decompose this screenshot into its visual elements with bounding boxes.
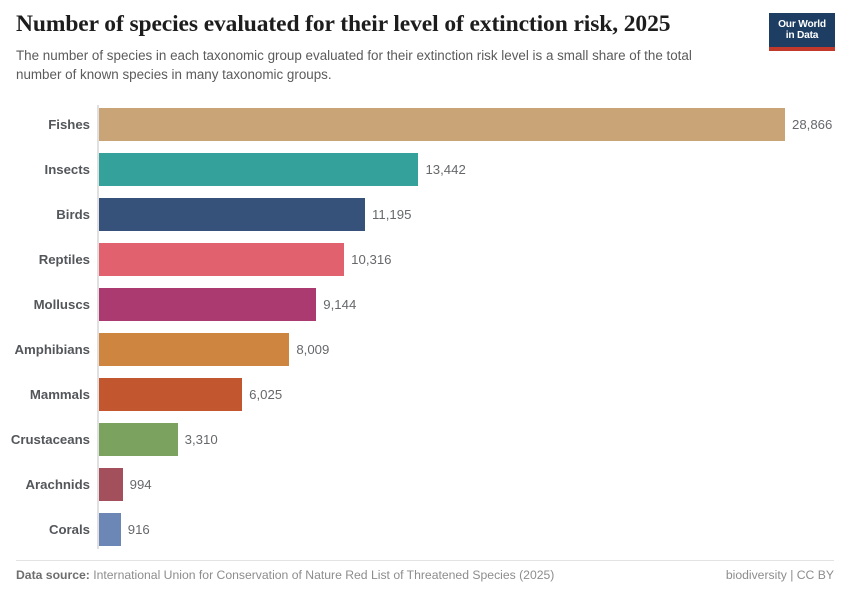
bar-rect[interactable] <box>99 378 242 411</box>
chart-page: Number of species evaluated for their le… <box>0 0 850 600</box>
bar-row[interactable]: Crustaceans3,310 <box>0 423 850 456</box>
bar-rect[interactable] <box>99 288 316 321</box>
bar-row[interactable]: Amphibians8,009 <box>0 333 850 366</box>
bar-row[interactable]: Corals916 <box>0 513 850 546</box>
data-source: Data source: International Union for Con… <box>16 568 554 582</box>
bar-category-label: Crustaceans <box>0 423 90 456</box>
bar-row[interactable]: Molluscs9,144 <box>0 288 850 321</box>
owid-logo[interactable]: Our World in Data <box>769 13 835 51</box>
bar-chart: Fishes28,866Insects13,442Birds11,195Rept… <box>0 100 850 552</box>
bar-rect[interactable] <box>99 153 418 186</box>
page-title: Number of species evaluated for their le… <box>16 10 756 38</box>
bar-value-label: 10,316 <box>351 243 391 276</box>
bar-category-label: Fishes <box>0 108 90 141</box>
bar-row[interactable]: Mammals6,025 <box>0 378 850 411</box>
bar-value-label: 916 <box>128 513 150 546</box>
bar-category-label: Reptiles <box>0 243 90 276</box>
bar-rect[interactable] <box>99 108 785 141</box>
data-source-text: International Union for Conservation of … <box>90 568 555 582</box>
chart-header: Number of species evaluated for their le… <box>0 0 850 96</box>
owid-logo-line-1: Our World <box>778 19 826 31</box>
bar-value-label: 11,195 <box>372 198 411 231</box>
bar-row[interactable]: Reptiles10,316 <box>0 243 850 276</box>
owid-logo-line-2: in Data <box>786 30 819 42</box>
bar-rect[interactable] <box>99 468 123 501</box>
bar-category-label: Insects <box>0 153 90 186</box>
bar-rect[interactable] <box>99 423 178 456</box>
bar-category-label: Birds <box>0 198 90 231</box>
bar-value-label: 13,442 <box>425 153 465 186</box>
bar-rect[interactable] <box>99 243 344 276</box>
bar-row[interactable]: Insects13,442 <box>0 153 850 186</box>
bar-row[interactable]: Birds11,195 <box>0 198 850 231</box>
bar-rect[interactable] <box>99 198 365 231</box>
bar-value-label: 8,009 <box>296 333 329 366</box>
bar-rect[interactable] <box>99 513 121 546</box>
bar-value-label: 9,144 <box>323 288 356 321</box>
bar-value-label: 28,866 <box>792 108 832 141</box>
bar-rect[interactable] <box>99 333 289 366</box>
data-source-label: Data source: <box>16 568 90 582</box>
bar-value-label: 994 <box>130 468 152 501</box>
bar-row[interactable]: Arachnids994 <box>0 468 850 501</box>
bar-category-label: Amphibians <box>0 333 90 366</box>
bar-category-label: Mammals <box>0 378 90 411</box>
bar-value-label: 6,025 <box>249 378 282 411</box>
bar-value-label: 3,310 <box>185 423 218 456</box>
chart-subtitle: The number of species in each taxonomic … <box>16 46 738 84</box>
chart-footer: Data source: International Union for Con… <box>0 561 850 600</box>
bar-category-label: Corals <box>0 513 90 546</box>
bar-category-label: Molluscs <box>0 288 90 321</box>
bar-row[interactable]: Fishes28,866 <box>0 108 850 141</box>
bar-category-label: Arachnids <box>0 468 90 501</box>
footer-license[interactable]: biodiversity | CC BY <box>726 568 834 582</box>
